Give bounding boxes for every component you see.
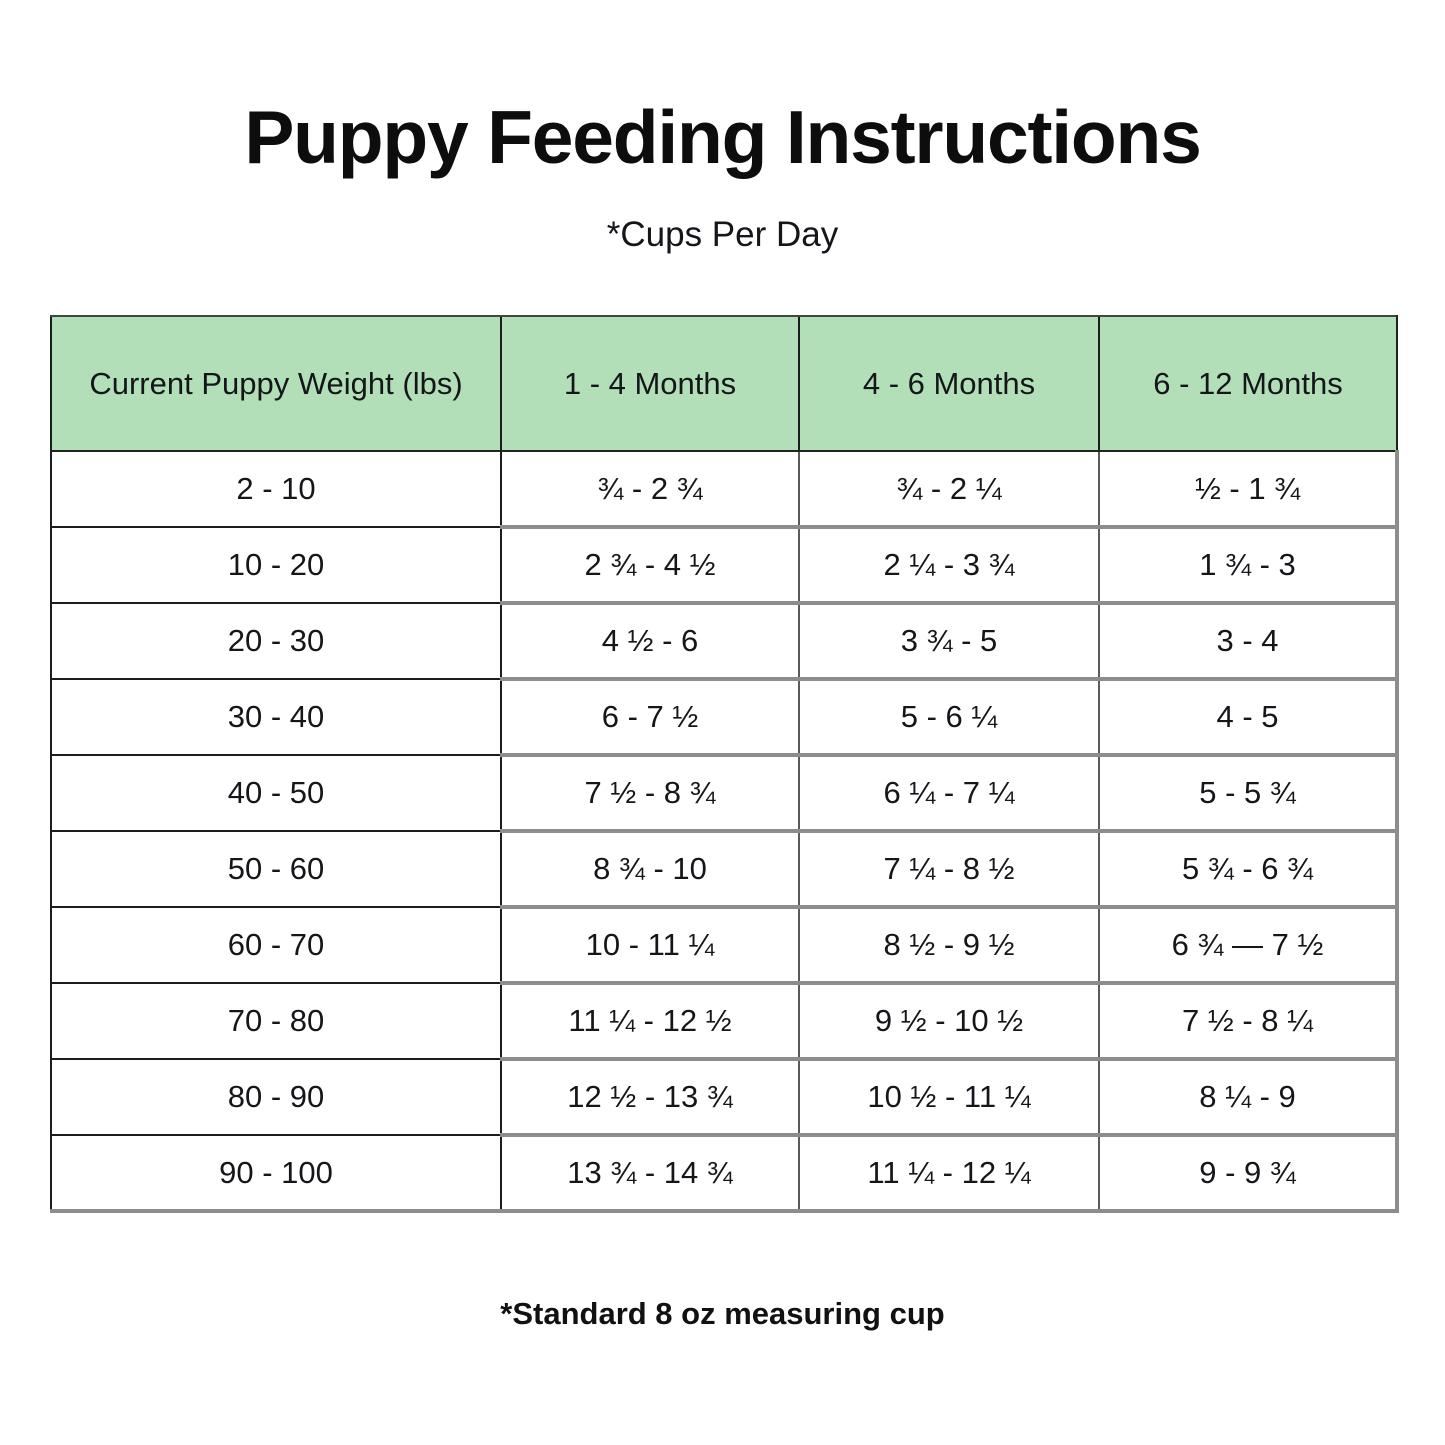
feeding-table: Current Puppy Weight (lbs) 1 - 4 Months … [50,315,1399,1213]
page-title: Puppy Feeding Instructions [0,92,1445,182]
cell-6-12-months: ½ - 1 ¾ [1099,451,1397,527]
cell-weight: 20 - 30 [51,603,501,679]
table-row: 2 - 10 ¾ - 2 ¾ ¾ - 2 ¼ ½ - 1 ¾ [51,451,1397,527]
cell-weight: 50 - 60 [51,831,501,907]
column-header-4-6-months: 4 - 6 Months [799,316,1099,451]
cell-1-4-months: 12 ½ - 13 ¾ [501,1059,799,1135]
table-row: 10 - 20 2 ¾ - 4 ½ 2 ¼ - 3 ¾ 1 ¾ - 3 [51,527,1397,603]
table-row: 70 - 80 11 ¼ - 12 ½ 9 ½ - 10 ½ 7 ½ - 8 ¼ [51,983,1397,1059]
cell-1-4-months: 13 ¾ - 14 ¾ [501,1135,799,1211]
table-row: 90 - 100 13 ¾ - 14 ¾ 11 ¼ - 12 ¼ 9 - 9 ¾ [51,1135,1397,1211]
cell-6-12-months: 5 ¾ - 6 ¾ [1099,831,1397,907]
table-row: 50 - 60 8 ¾ - 10 7 ¼ - 8 ½ 5 ¾ - 6 ¾ [51,831,1397,907]
cell-weight: 70 - 80 [51,983,501,1059]
cell-1-4-months: 6 - 7 ½ [501,679,799,755]
table-row: 30 - 40 6 - 7 ½ 5 - 6 ¼ 4 - 5 [51,679,1397,755]
column-header-weight: Current Puppy Weight (lbs) [51,316,501,451]
cell-4-6-months: 11 ¼ - 12 ¼ [799,1135,1099,1211]
table-body: 2 - 10 ¾ - 2 ¾ ¾ - 2 ¼ ½ - 1 ¾ 10 - 20 2… [51,451,1397,1211]
table-row: 80 - 90 12 ½ - 13 ¾ 10 ½ - 11 ¼ 8 ¼ - 9 [51,1059,1397,1135]
table-header: Current Puppy Weight (lbs) 1 - 4 Months … [51,316,1397,451]
table-row: 40 - 50 7 ½ - 8 ¾ 6 ¼ - 7 ¼ 5 - 5 ¾ [51,755,1397,831]
cell-weight: 80 - 90 [51,1059,501,1135]
cell-weight: 30 - 40 [51,679,501,755]
title-block: Puppy Feeding Instructions *Cups Per Day [0,0,1445,256]
cell-4-6-months: ¾ - 2 ¼ [799,451,1099,527]
cell-1-4-months: 10 - 11 ¼ [501,907,799,983]
cell-weight: 90 - 100 [51,1135,501,1211]
cell-1-4-months: ¾ - 2 ¾ [501,451,799,527]
cell-1-4-months: 11 ¼ - 12 ½ [501,983,799,1059]
cell-4-6-months: 7 ¼ - 8 ½ [799,831,1099,907]
cell-weight: 2 - 10 [51,451,501,527]
cell-weight: 40 - 50 [51,755,501,831]
cell-6-12-months: 5 - 5 ¾ [1099,755,1397,831]
cell-4-6-months: 6 ¼ - 7 ¼ [799,755,1099,831]
column-header-1-4-months: 1 - 4 Months [501,316,799,451]
cell-weight: 60 - 70 [51,907,501,983]
cell-6-12-months: 3 - 4 [1099,603,1397,679]
table-row: 20 - 30 4 ½ - 6 3 ¾ - 5 3 - 4 [51,603,1397,679]
cell-6-12-months: 7 ½ - 8 ¼ [1099,983,1397,1059]
cell-weight: 10 - 20 [51,527,501,603]
cell-1-4-months: 8 ¾ - 10 [501,831,799,907]
page-subtitle: *Cups Per Day [0,182,1445,256]
cell-6-12-months: 1 ¾ - 3 [1099,527,1397,603]
cell-4-6-months: 8 ½ - 9 ½ [799,907,1099,983]
cell-6-12-months: 6 ¾ — 7 ½ [1099,907,1397,983]
cell-4-6-months: 10 ½ - 11 ¼ [799,1059,1099,1135]
cell-1-4-months: 7 ½ - 8 ¾ [501,755,799,831]
feeding-table-wrapper: Current Puppy Weight (lbs) 1 - 4 Months … [50,315,1396,1213]
feeding-chart-page: Puppy Feeding Instructions *Cups Per Day… [0,0,1445,1445]
cell-4-6-months: 3 ¾ - 5 [799,603,1099,679]
cell-6-12-months: 9 - 9 ¾ [1099,1135,1397,1211]
column-header-6-12-months: 6 - 12 Months [1099,316,1397,451]
table-header-row: Current Puppy Weight (lbs) 1 - 4 Months … [51,316,1397,451]
cell-1-4-months: 4 ½ - 6 [501,603,799,679]
table-row: 60 - 70 10 - 11 ¼ 8 ½ - 9 ½ 6 ¾ — 7 ½ [51,907,1397,983]
cell-6-12-months: 8 ¼ - 9 [1099,1059,1397,1135]
cell-4-6-months: 2 ¼ - 3 ¾ [799,527,1099,603]
cell-1-4-months: 2 ¾ - 4 ½ [501,527,799,603]
cell-4-6-months: 9 ½ - 10 ½ [799,983,1099,1059]
footnote-measuring-cup: *Standard 8 oz measuring cup [0,1295,1445,1333]
cell-4-6-months: 5 - 6 ¼ [799,679,1099,755]
cell-6-12-months: 4 - 5 [1099,679,1397,755]
